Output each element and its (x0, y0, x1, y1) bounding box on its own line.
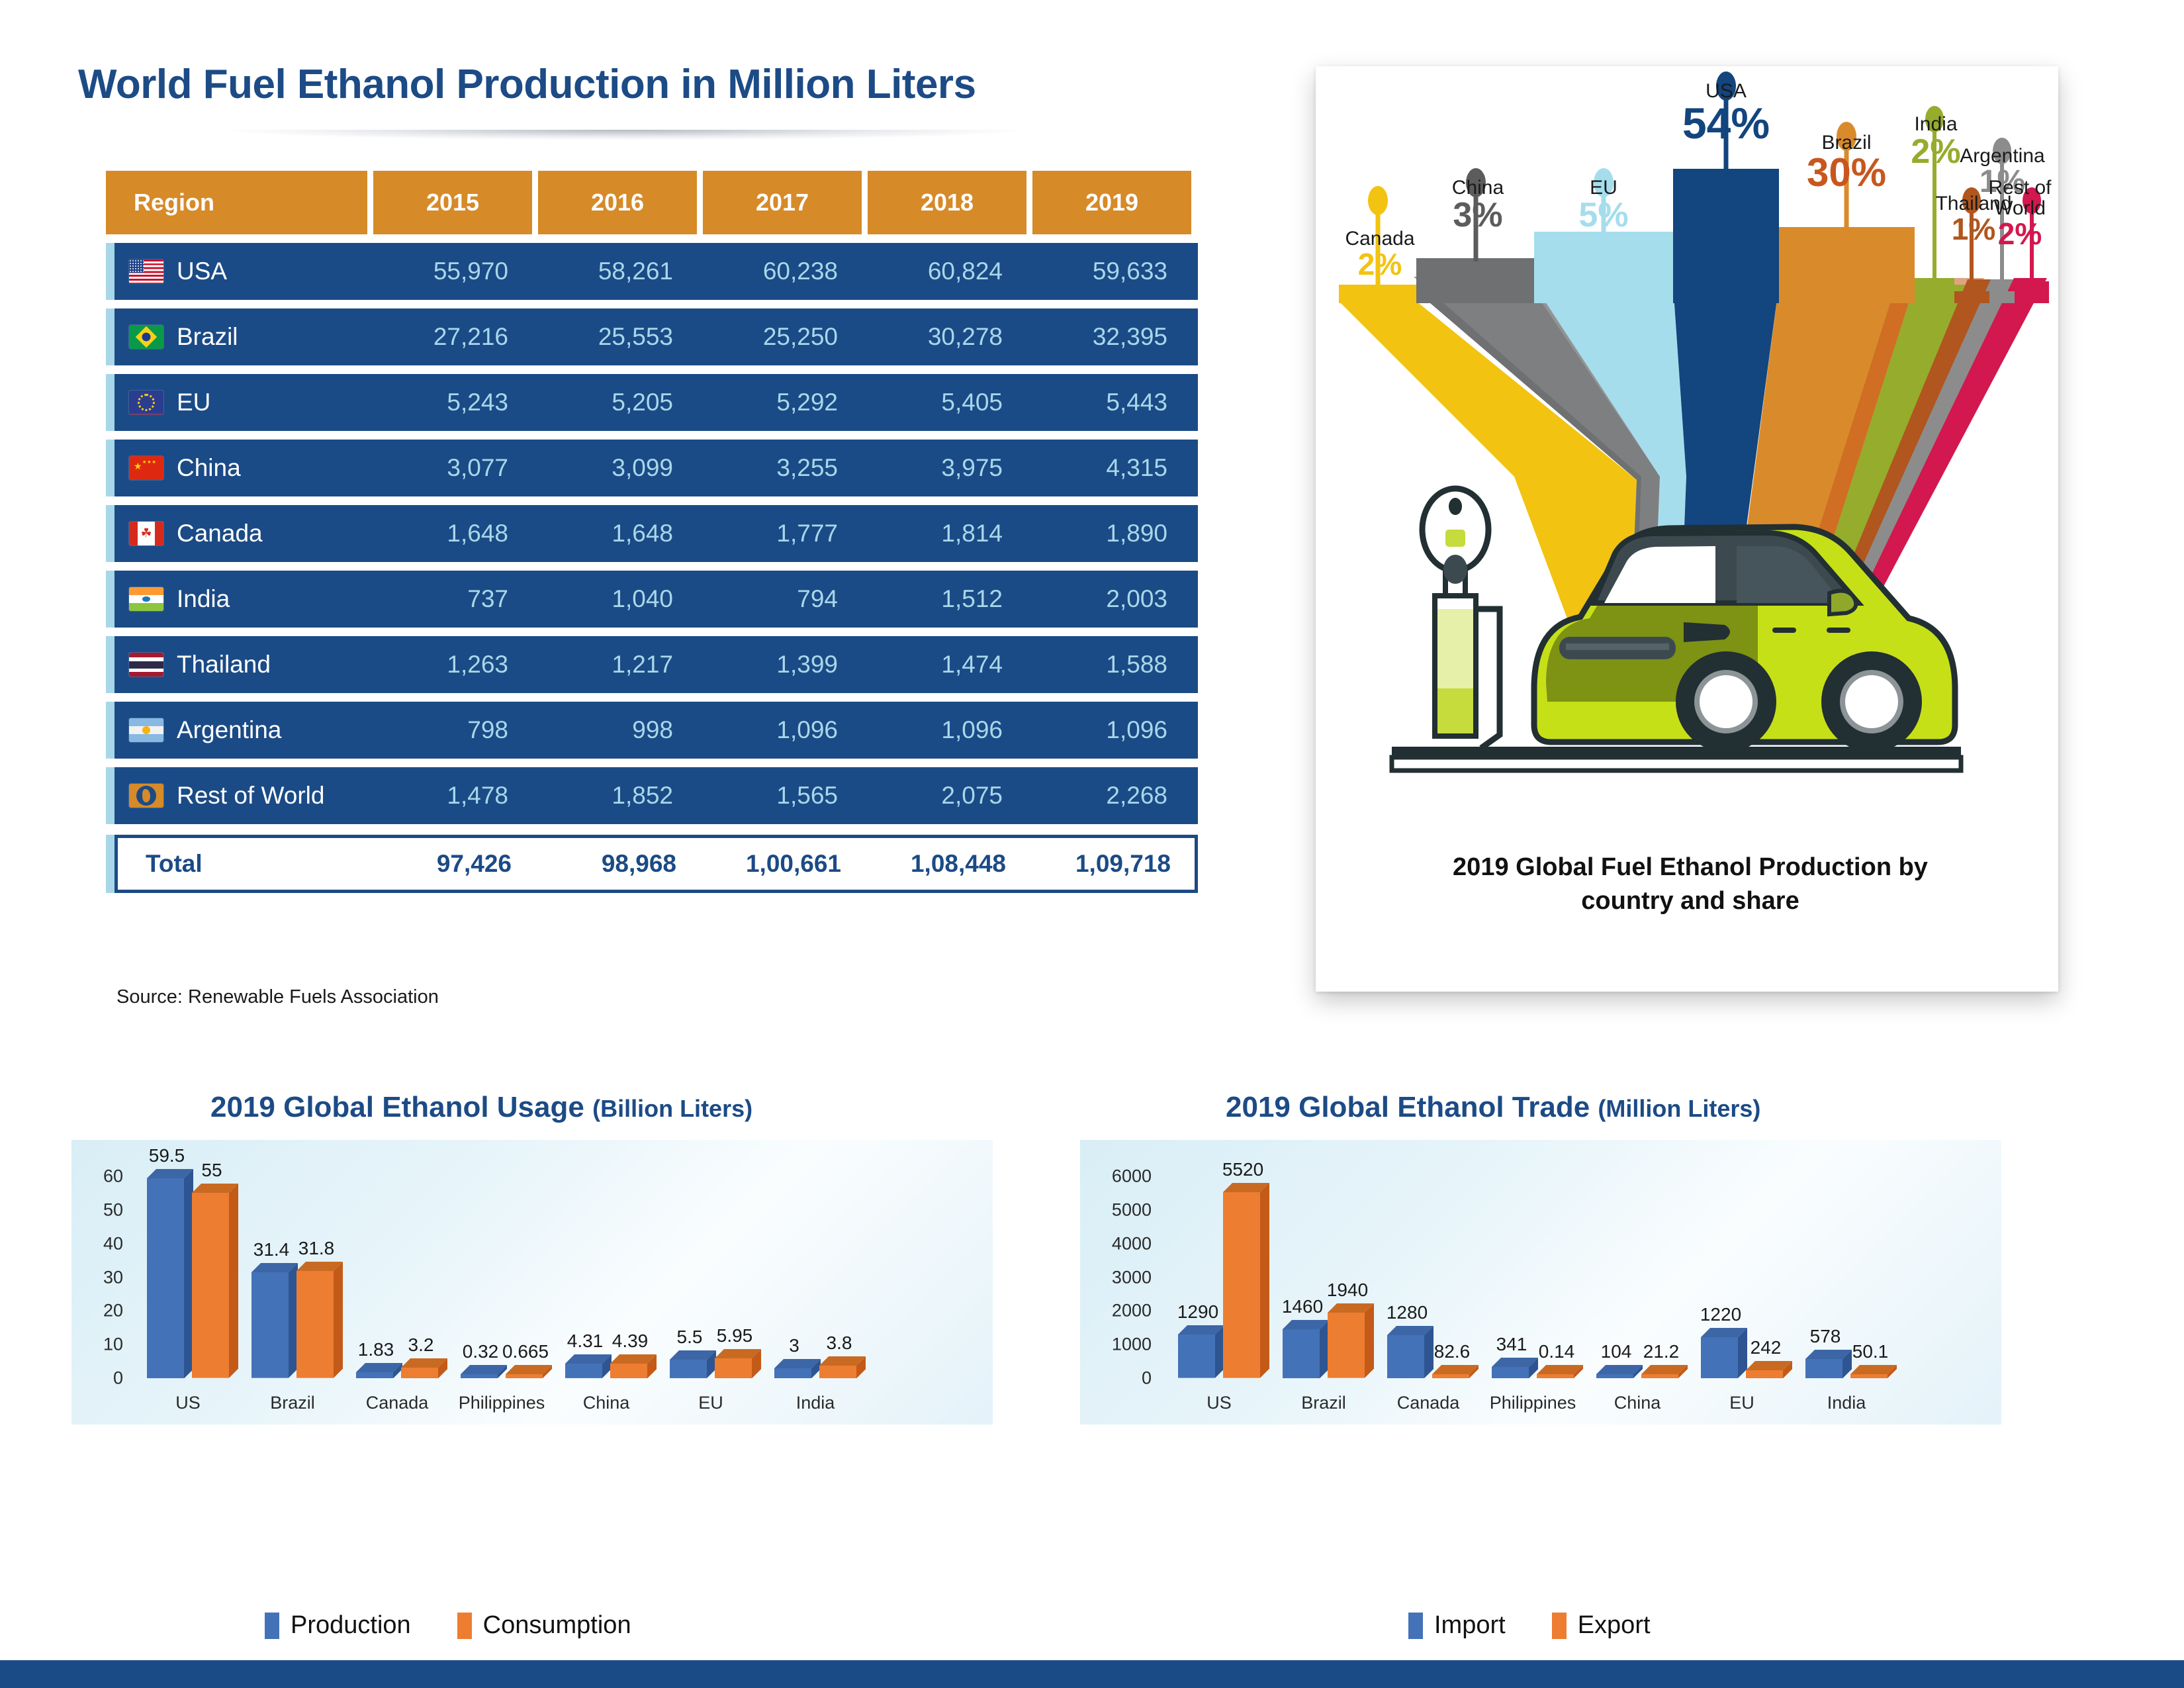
row-body: Total97,42698,9681,00,6611,08,4481,09,71… (114, 835, 1198, 893)
thailand-flag-icon (129, 653, 163, 677)
table-cell-1: 25,553 (532, 323, 697, 351)
bar-import-philippines (1492, 1358, 1538, 1378)
share-callout-usa: USA 54% (1673, 81, 1779, 145)
table-cell-2: 1,096 (697, 716, 862, 744)
bar-export-india (1850, 1365, 1897, 1378)
bar-export-eu (1746, 1361, 1792, 1378)
x-axis-tick: Canada (366, 1393, 429, 1413)
bar-production-philippines (461, 1365, 507, 1378)
bar-value-label: 0.665 (502, 1341, 549, 1362)
x-axis-tick: Brazil (1301, 1393, 1346, 1413)
table-cell-2: 5,292 (697, 389, 862, 416)
region-label: China (177, 454, 241, 482)
region-label: Argentina (177, 716, 281, 744)
total-label-cell: Total (118, 850, 371, 878)
table-cell-3: 1,512 (862, 585, 1026, 613)
bar-consumption-eu (715, 1349, 761, 1378)
y-axis-tick: 20 (71, 1301, 123, 1321)
table-cell-2: 1,399 (697, 651, 862, 679)
y-axis-tick: 6000 (1080, 1166, 1152, 1187)
table-cell-region: India (114, 585, 367, 613)
row-accent (106, 571, 114, 628)
table-cell-2: 25,250 (697, 323, 862, 351)
row-body: USA55,97058,26160,23860,82459,633 (114, 243, 1198, 300)
row-body: Argentina7989981,0961,0961,096 (114, 702, 1198, 759)
row-body: Thailand1,2631,2171,3991,4741,588 (114, 636, 1198, 693)
bar-import-china (1596, 1365, 1643, 1378)
x-axis-tick: China (583, 1393, 630, 1413)
share-panel: Canada 2% China 3% EU 5% USA 54% Brazil … (1316, 66, 2058, 992)
table-row: Brazil27,21625,55325,25030,27832,395 (106, 308, 1198, 365)
row-accent (106, 767, 114, 824)
bar-export-china (1641, 1365, 1688, 1378)
table-cell-4: 1,588 (1026, 651, 1191, 679)
usa-flag-icon (129, 259, 163, 283)
share-callout-brazil: Brazil 30% (1794, 132, 1899, 193)
table-cell-1: 5,205 (532, 389, 697, 416)
region-label: Thailand (177, 651, 271, 679)
bar-import-eu (1701, 1328, 1747, 1378)
x-axis-tick: EU (1729, 1393, 1754, 1413)
share-panel-caption: 2019 Global Fuel Ethanol Production by c… (1349, 851, 2032, 917)
table-cell-2: 1,777 (697, 520, 862, 547)
y-axis-tick: 3000 (1080, 1267, 1152, 1288)
usage-plot-area: 0102030405060US59.555Brazil31.431.8Canad… (71, 1140, 993, 1425)
table-cell-region: ★★★★China (114, 454, 367, 482)
argentina-flag-icon (129, 718, 163, 742)
y-axis-tick: 40 (71, 1233, 123, 1254)
region-label: EU (177, 389, 210, 416)
y-axis-tick: 0 (71, 1368, 123, 1389)
table-cell-4: 5,443 (1026, 389, 1191, 416)
table-cell-1: 998 (532, 716, 697, 744)
table-cell-region: USA (114, 258, 367, 285)
y-axis-tick: 10 (71, 1335, 123, 1355)
trade-chart-title: 2019 Global Ethanol Trade (Million Liter… (1226, 1091, 1760, 1124)
caption-line-2: country and share (1349, 884, 2032, 918)
row-accent (106, 636, 114, 693)
funnel-diagram (1316, 66, 2058, 841)
table-cell-0: 798 (367, 716, 532, 744)
region-label: India (177, 585, 230, 613)
legend-swatch-export (1552, 1613, 1567, 1639)
legend-item-consumption: Consumption (457, 1611, 631, 1640)
bar-export-philippines (1537, 1365, 1583, 1378)
bar-export-canada (1432, 1365, 1479, 1378)
bar-production-eu (670, 1350, 716, 1378)
bar-value-label: 31.8 (298, 1238, 335, 1259)
table-cell-0: 5,243 (367, 389, 532, 416)
column-header-2015: 2015 (373, 171, 532, 234)
y-axis-tick: 2000 (1080, 1301, 1152, 1321)
table-cell-0: 1,478 (367, 782, 532, 810)
table-cell-region: Thailand (114, 651, 367, 679)
total-cell-0: 97,426 (371, 850, 535, 878)
table-cell-region: EU (114, 389, 367, 416)
table-row: USA55,97058,26160,23860,82459,633 (106, 243, 1198, 300)
y-axis-tick: 1000 (1080, 1335, 1152, 1355)
table-cell-region: ☘Canada (114, 520, 367, 547)
table-header-row: Region 2015 2016 2017 2018 2019 (106, 171, 1198, 234)
legend-item-production: Production (265, 1611, 411, 1640)
y-axis-tick: 0 (1080, 1368, 1152, 1389)
bar-value-label: 1940 (1327, 1280, 1368, 1301)
legend-item-import: Import (1408, 1611, 1506, 1640)
bar-value-label: 59.5 (149, 1145, 185, 1166)
x-axis-tick: Canada (1397, 1393, 1460, 1413)
total-cell-1: 98,968 (535, 850, 700, 878)
bar-value-label: 50.1 (1852, 1341, 1889, 1362)
table-cell-1: 58,261 (532, 258, 697, 285)
table-row: India7371,0407941,5122,003 (106, 571, 1198, 628)
table-cell-3: 2,075 (862, 782, 1026, 810)
table-cell-1: 3,099 (532, 454, 697, 482)
row-accent (106, 243, 114, 300)
bar-value-label: 0.14 (1539, 1341, 1575, 1362)
usage-chart-title: 2019 Global Ethanol Usage (Billion Liter… (210, 1091, 752, 1124)
table-row: Rest of World1,4781,8521,5652,0752,268 (106, 767, 1198, 824)
table-cell-0: 55,970 (367, 258, 532, 285)
table-row: ★★★★China3,0773,0993,2553,9754,315 (106, 440, 1198, 496)
table-cell-3: 3,975 (862, 454, 1026, 482)
bar-value-label: 1290 (1177, 1301, 1218, 1323)
bar-consumption-china (610, 1354, 657, 1378)
region-label: Canada (177, 520, 263, 547)
total-cell-4: 1,09,718 (1030, 850, 1195, 878)
table-cell-1: 1,852 (532, 782, 697, 810)
table-cell-4: 2,268 (1026, 782, 1191, 810)
bar-value-label: 3.8 (827, 1333, 852, 1354)
bar-export-brazil (1328, 1303, 1374, 1378)
column-header-region: Region (106, 171, 367, 234)
y-axis-tick: 4000 (1080, 1233, 1152, 1254)
bar-consumption-philippines (506, 1365, 552, 1378)
brazil-flag-icon (129, 325, 163, 349)
bar-value-label: 82.6 (1434, 1341, 1471, 1362)
table-cell-4: 1,096 (1026, 716, 1191, 744)
row-body: Rest of World1,4781,8521,5652,0752,268 (114, 767, 1198, 824)
x-axis-tick: Philippines (1490, 1393, 1576, 1413)
table-total-row: Total97,42698,9681,00,6611,08,4481,09,71… (106, 835, 1198, 893)
table-cell-0: 1,263 (367, 651, 532, 679)
table-cell-1: 1,040 (532, 585, 697, 613)
y-axis-tick: 30 (71, 1267, 123, 1288)
column-header-2019: 2019 (1032, 171, 1191, 234)
share-callout-canada: Canada 2% (1330, 228, 1430, 279)
bar-consumption-brazil (296, 1262, 343, 1378)
bar-value-label: 4.39 (612, 1331, 649, 1352)
table-cell-0: 27,216 (367, 323, 532, 351)
bar-value-label: 341 (1496, 1334, 1527, 1355)
legend-swatch-import (1408, 1613, 1423, 1639)
total-cell-2: 1,00,661 (700, 850, 865, 878)
bar-value-label: 5.95 (717, 1325, 753, 1346)
table-cell-3: 1,096 (862, 716, 1026, 744)
row-accent (106, 835, 114, 893)
table-row: EU5,2435,2055,2925,4055,443 (106, 374, 1198, 431)
x-axis-tick: Philippines (459, 1393, 545, 1413)
row-body: EU5,2435,2055,2925,4055,443 (114, 374, 1198, 431)
bar-value-label: 3 (789, 1335, 799, 1356)
footer-bar (0, 1660, 2184, 1688)
table-cell-1: 1,648 (532, 520, 697, 547)
table-row: ☘Canada1,6481,6481,7771,8141,890 (106, 505, 1198, 562)
bar-import-canada (1387, 1326, 1433, 1378)
table-cell-0: 3,077 (367, 454, 532, 482)
column-header-2017: 2017 (703, 171, 862, 234)
table-cell-2: 1,565 (697, 782, 862, 810)
bar-value-label: 5.5 (677, 1327, 703, 1348)
bar-value-label: 578 (1810, 1326, 1841, 1347)
table-cell-3: 1,814 (862, 520, 1026, 547)
bar-value-label: 242 (1751, 1337, 1782, 1358)
bar-import-brazil (1283, 1320, 1329, 1378)
x-axis-tick: India (796, 1393, 835, 1413)
india-flag-icon (129, 587, 163, 611)
total-cell-3: 1,08,448 (865, 850, 1030, 878)
x-axis-tick: EU (698, 1393, 723, 1413)
bar-consumption-canada (401, 1358, 447, 1378)
table-cell-3: 60,824 (862, 258, 1026, 285)
x-axis-tick: Brazil (270, 1393, 315, 1413)
bar-production-china (565, 1354, 612, 1378)
caption-line-1: 2019 Global Fuel Ethanol Production by (1349, 851, 2032, 884)
table-cell-4: 32,395 (1026, 323, 1191, 351)
source-note: Source: Renewable Fuels Association (116, 986, 439, 1008)
bar-value-label: 104 (1601, 1341, 1632, 1362)
usage-legend: Production Consumption (265, 1611, 631, 1640)
eu-flag-icon (129, 391, 163, 414)
row-accent (106, 308, 114, 365)
column-header-2016: 2016 (538, 171, 697, 234)
x-axis-tick: China (1614, 1393, 1661, 1413)
row-accent (106, 702, 114, 759)
row-body: India7371,0407941,5122,003 (114, 571, 1198, 628)
row-body: Brazil27,21625,55325,25030,27832,395 (114, 308, 1198, 365)
share-callout-eu: EU 5% (1554, 177, 1653, 232)
bar-value-label: 31.4 (253, 1239, 290, 1260)
table-cell-1: 1,217 (532, 651, 697, 679)
bar-value-label: 1.83 (358, 1339, 394, 1360)
table-cell-0: 1,648 (367, 520, 532, 547)
bar-import-us (1178, 1325, 1224, 1378)
row-body: ★★★★China3,0773,0993,2553,9754,315 (114, 440, 1198, 496)
y-axis-tick: 60 (71, 1166, 123, 1187)
production-table: Region 2015 2016 2017 2018 2019 USA55,97… (106, 171, 1198, 893)
china-flag-icon: ★★★★ (129, 456, 163, 480)
title-divider (63, 130, 1188, 158)
y-axis-tick: 50 (71, 1199, 123, 1220)
table-row: Argentina7989981,0961,0961,096 (106, 702, 1198, 759)
total-label: Total (132, 850, 203, 878)
legend-swatch-production (265, 1613, 279, 1639)
bar-value-label: 1460 (1282, 1296, 1323, 1317)
row-body: ☘Canada1,6481,6481,7771,8141,890 (114, 505, 1198, 562)
bar-production-us (147, 1169, 193, 1378)
region-label: Brazil (177, 323, 238, 351)
canada-flag-icon: ☘ (129, 522, 163, 545)
bar-value-label: 3.2 (408, 1335, 434, 1356)
column-header-2018: 2018 (868, 171, 1026, 234)
bar-value-label: 21.2 (1643, 1341, 1680, 1362)
row-accent (106, 374, 114, 431)
region-label: Rest of World (177, 782, 324, 810)
table-cell-3: 1,474 (862, 651, 1026, 679)
bar-value-label: 4.31 (567, 1331, 604, 1352)
x-axis-tick: India (1827, 1393, 1866, 1413)
table-cell-2: 3,255 (697, 454, 862, 482)
bar-value-label: 1280 (1387, 1302, 1428, 1323)
share-callout-china: China 3% (1428, 177, 1527, 232)
bar-value-label: 1220 (1700, 1304, 1741, 1325)
bar-import-india (1805, 1350, 1852, 1378)
table-cell-2: 60,238 (697, 258, 862, 285)
bar-consumption-us (192, 1184, 238, 1378)
x-axis-tick: US (1206, 1393, 1232, 1413)
region-label: USA (177, 258, 227, 285)
table-cell-region: Rest of World (114, 782, 367, 810)
legend-swatch-consumption (457, 1613, 472, 1639)
trade-legend: Import Export (1408, 1611, 1651, 1640)
table-cell-4: 2,003 (1026, 585, 1191, 613)
table-cell-region: Brazil (114, 323, 367, 351)
table-row: Thailand1,2631,2171,3991,4741,588 (106, 636, 1198, 693)
world-globe-icon (129, 784, 163, 808)
bar-consumption-india (819, 1356, 866, 1378)
row-accent (106, 440, 114, 496)
table-cell-3: 30,278 (862, 323, 1026, 351)
table-cell-2: 794 (697, 585, 862, 613)
table-cell-region: Argentina (114, 716, 367, 744)
bar-production-india (774, 1359, 821, 1378)
x-axis-tick: US (175, 1393, 201, 1413)
bar-value-label: 55 (201, 1160, 222, 1181)
table-cell-4: 1,890 (1026, 520, 1191, 547)
y-axis-tick: 5000 (1080, 1199, 1152, 1220)
page-title: World Fuel Ethanol Production in Million… (78, 61, 976, 108)
bar-production-brazil (251, 1263, 298, 1378)
table-cell-4: 4,315 (1026, 454, 1191, 482)
table-cell-0: 737 (367, 585, 532, 613)
bar-value-label: 0.32 (463, 1341, 499, 1362)
table-cell-3: 5,405 (862, 389, 1026, 416)
table-cell-4: 59,633 (1026, 258, 1191, 285)
row-accent (106, 505, 114, 562)
bar-export-us (1223, 1183, 1269, 1378)
legend-item-export: Export (1552, 1611, 1651, 1640)
trade-plot-area: 0100020003000400050006000US12905520Brazi… (1080, 1140, 2001, 1425)
bar-value-label: 5520 (1222, 1159, 1263, 1180)
share-callout-rest-of-world: Rest of World 2% (1984, 177, 2056, 249)
bar-production-canada (356, 1363, 402, 1378)
